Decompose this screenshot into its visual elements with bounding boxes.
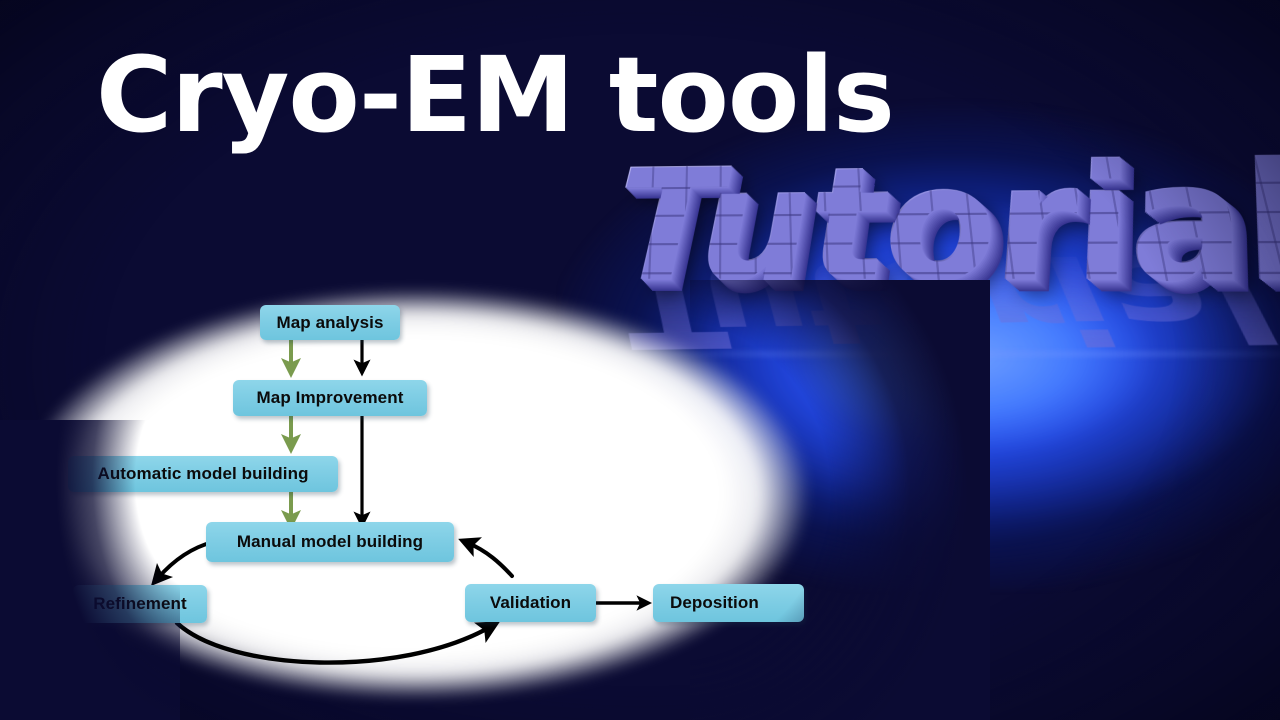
node-manual-model-building: Manual model building bbox=[206, 522, 454, 562]
workflow-diagram: Map analysis Map Improvement Automatic m… bbox=[0, 280, 860, 720]
node-label: Refinement bbox=[93, 594, 187, 614]
node-label: Manual model building bbox=[237, 532, 423, 552]
node-label: Map Improvement bbox=[257, 388, 404, 408]
edge-validation-to-manual bbox=[468, 543, 512, 576]
node-map-improvement: Map Improvement bbox=[233, 380, 427, 416]
node-label: Automatic model building bbox=[97, 464, 308, 484]
slide-canvas: Tutorial Tutorial Tutorial Cryo-EM tools bbox=[0, 0, 1280, 720]
node-label: Map analysis bbox=[276, 313, 383, 333]
node-automatic-model-building: Automatic model building bbox=[68, 456, 338, 492]
node-validation: Validation bbox=[465, 584, 596, 622]
edge-manual-to-refinement bbox=[158, 542, 213, 578]
node-refinement: Refinement bbox=[73, 585, 207, 623]
node-deposition: Deposition bbox=[653, 584, 804, 622]
workflow-connectors bbox=[0, 280, 860, 720]
page-title: Cryo-EM tools bbox=[96, 34, 894, 157]
node-label: Deposition bbox=[670, 593, 759, 613]
node-label: Validation bbox=[490, 593, 571, 613]
node-map-analysis: Map analysis bbox=[260, 305, 400, 340]
edge-refinement-to-validation bbox=[177, 623, 490, 663]
